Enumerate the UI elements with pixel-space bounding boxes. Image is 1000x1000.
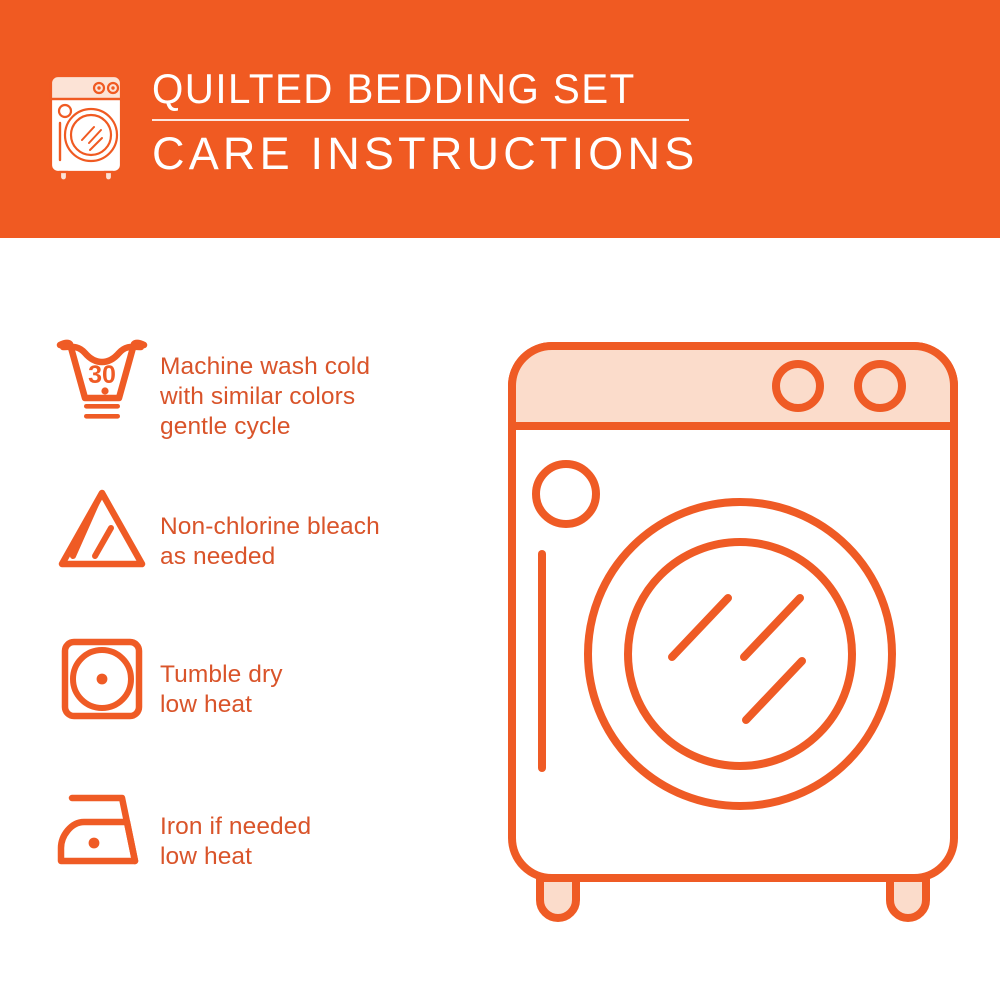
header-text-block: QUILTED BEDDING SET CARE INSTRUCTIONS — [152, 66, 698, 178]
page-subtitle: CARE INSTRUCTIONS — [152, 130, 698, 178]
bleach-triangle-icon — [53, 486, 151, 572]
care-symbol-wrapper — [44, 780, 160, 872]
care-symbol-wrapper: 30 — [44, 330, 160, 422]
iron-icon — [53, 786, 151, 872]
care-symbol-wrapper — [44, 480, 160, 572]
care-item-iron: Iron if needed low heat — [44, 780, 484, 930]
header-content: QUILTED BEDDING SET CARE INSTRUCTIONS — [44, 66, 698, 182]
care-item-tumble-dry: Tumble dry low heat — [44, 630, 484, 780]
care-symbol-wrapper — [44, 630, 160, 722]
control-panel — [512, 346, 954, 426]
care-item-text: Non-chlorine bleach as needed — [160, 480, 484, 572]
care-instructions-list: 30 Machine wash cold with similar colors… — [44, 330, 484, 930]
washing-machine-illustration — [490, 332, 990, 932]
care-item-text: Machine wash cold with similar colors ge… — [160, 330, 484, 442]
header-divider — [152, 119, 689, 121]
care-item-bleach: Non-chlorine bleach as needed — [44, 480, 484, 630]
header-banner: QUILTED BEDDING SET CARE INSTRUCTIONS — [0, 0, 1000, 238]
leg-right — [890, 878, 926, 918]
wash-tub-icon: 30 — [53, 336, 151, 422]
care-item-text: Iron if needed low heat — [160, 780, 484, 872]
care-item-machine-wash: 30 Machine wash cold with similar colors… — [44, 330, 484, 480]
washing-machine-icon — [44, 70, 128, 182]
care-item-text: Tumble dry low heat — [160, 630, 484, 720]
page-title: QUILTED BEDDING SET — [152, 66, 677, 112]
wash-temperature-label: 30 — [88, 361, 116, 389]
tumble-dry-icon — [53, 636, 151, 722]
leg-left — [540, 878, 576, 918]
